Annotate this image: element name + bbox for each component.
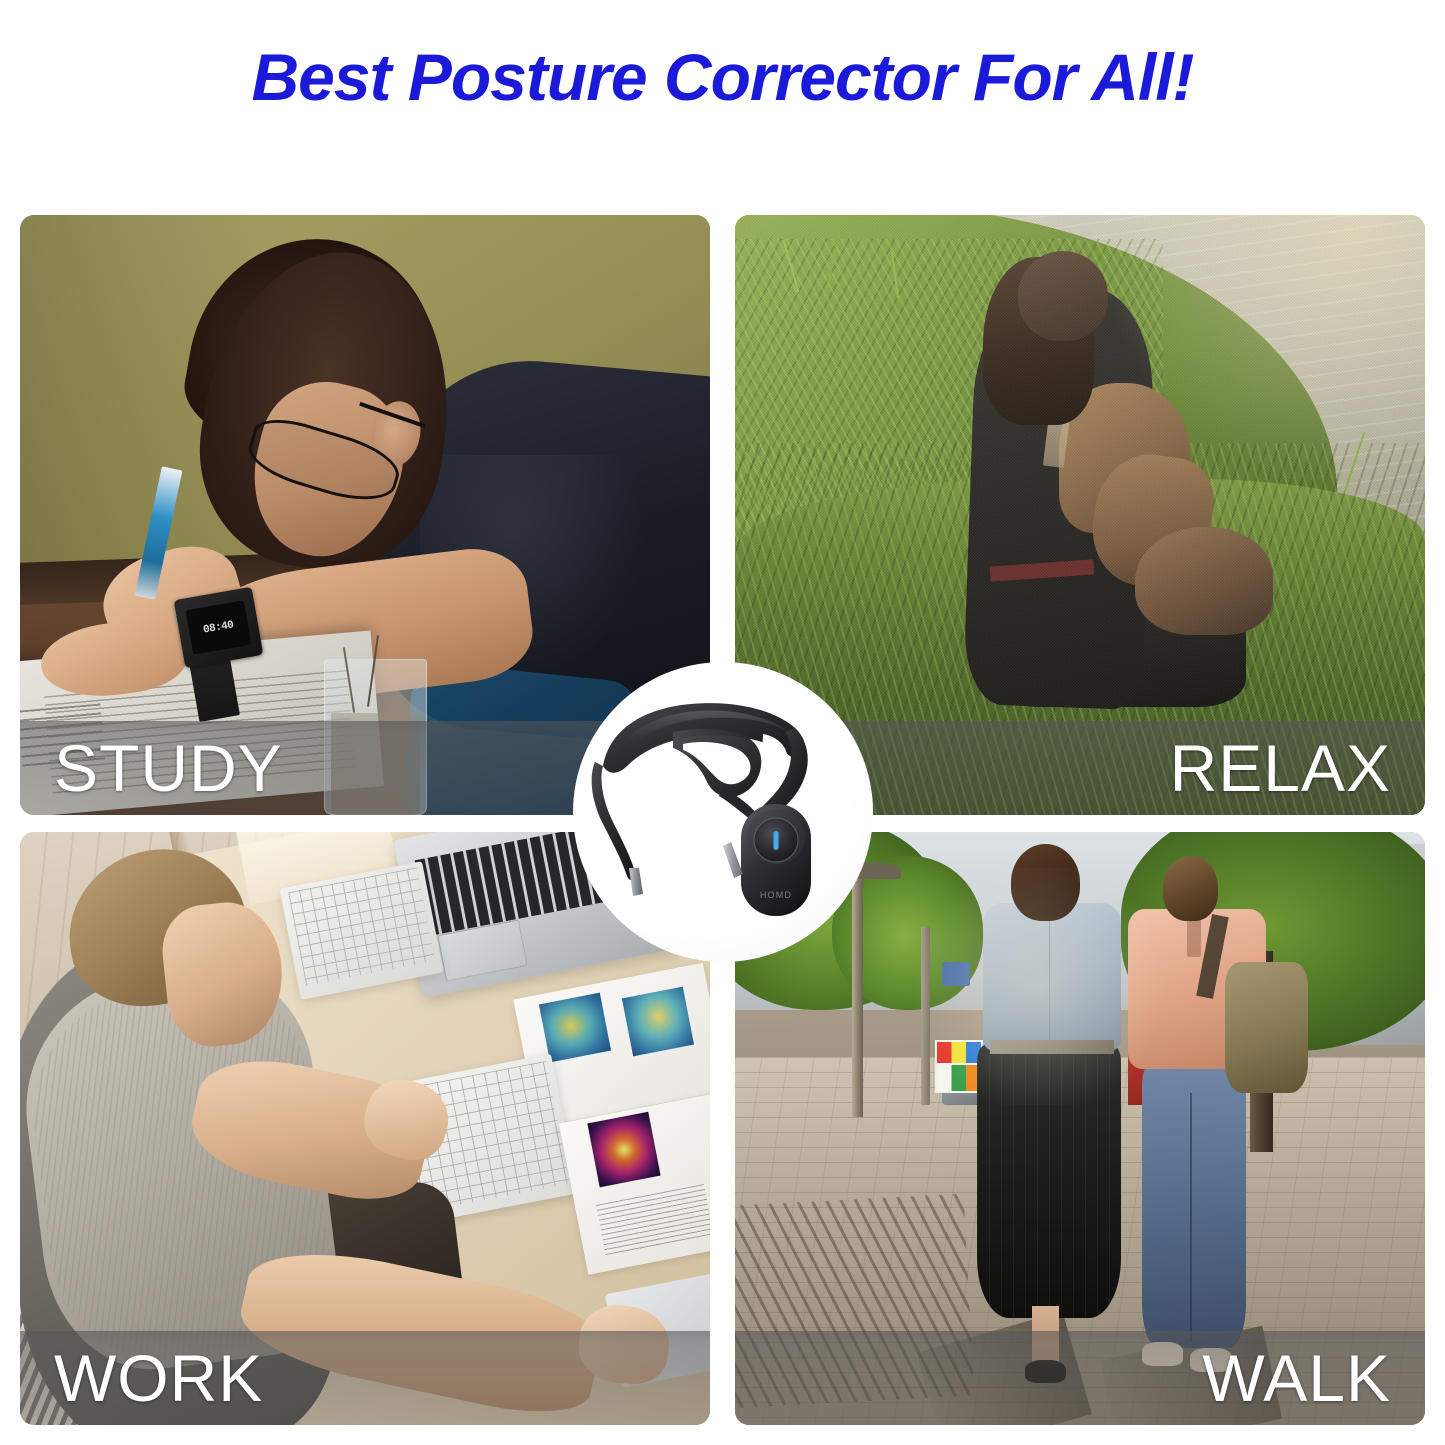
posture-corrector-device-icon: HOMD	[573, 662, 873, 962]
smartwatch-time: 08:40	[202, 619, 234, 636]
device-led-glow	[774, 831, 779, 850]
device-left-arm	[592, 762, 636, 880]
device-brand-mark: HOMD	[760, 890, 792, 900]
product-medallion: HOMD	[573, 662, 873, 962]
device-hinge-pin	[723, 842, 743, 878]
page-title: Best Posture Corrector For All!	[0, 44, 1445, 110]
device-left-tip	[629, 868, 643, 896]
